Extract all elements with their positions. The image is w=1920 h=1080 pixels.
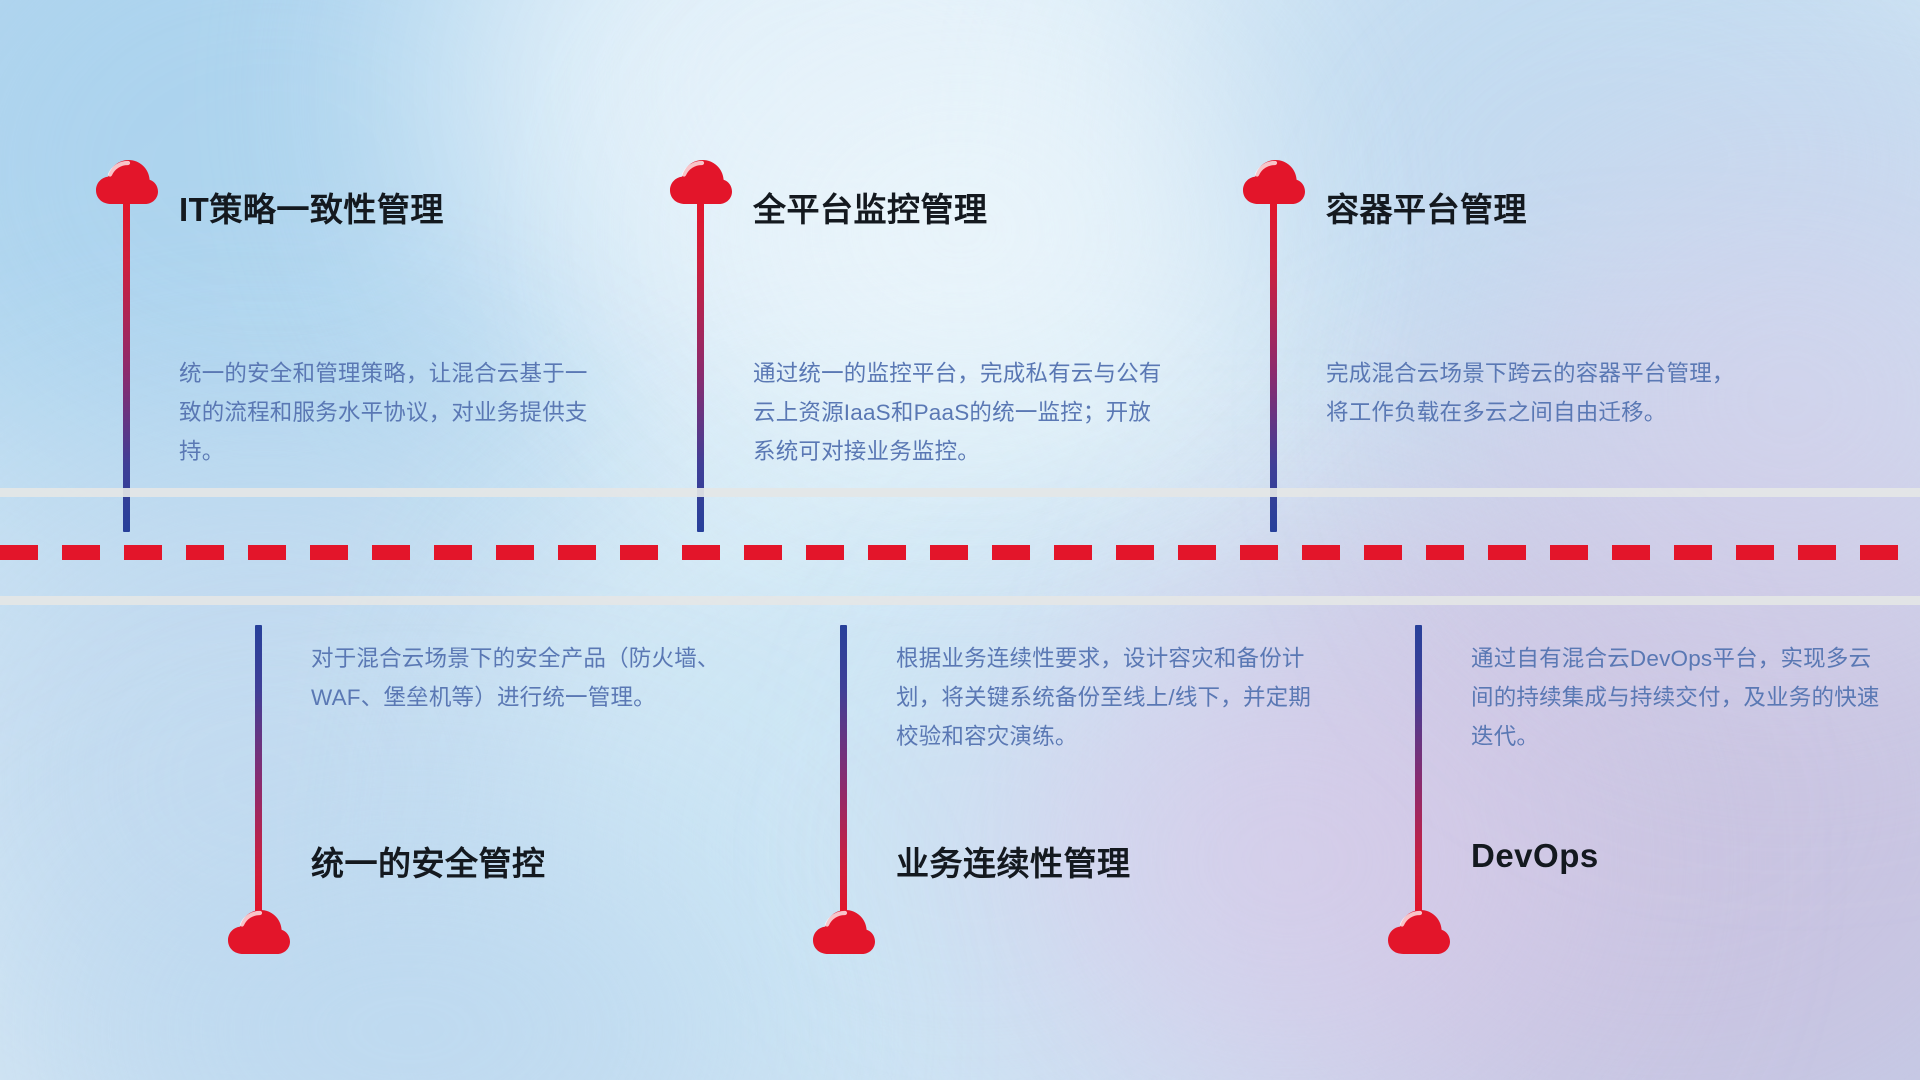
- feature-title: IT策略一致性管理: [179, 183, 444, 231]
- feature-title: DevOps: [1471, 837, 1599, 875]
- feature-description: 完成混合云场景下跨云的容器平台管理，将工作负载在多云之间自由迁移。: [1326, 354, 1746, 432]
- cloud-pin-icon: [228, 910, 290, 956]
- column-stem: [697, 202, 704, 532]
- feature-title: 容器平台管理: [1326, 183, 1527, 231]
- infographic-canvas: IT策略一致性管理 统一的安全和管理策略，让混合云基于一致的流程和服务水平协议，…: [0, 0, 1920, 1080]
- column-stem: [123, 202, 130, 532]
- column-stem: [840, 625, 847, 915]
- column-stem: [1270, 202, 1277, 532]
- road-edge-top: [0, 488, 1920, 497]
- column-stem: [1415, 625, 1422, 915]
- feature-description: 通过统一的监控平台，完成私有云与公有云上资源IaaS和PaaS的统一监控；开放系…: [753, 354, 1173, 471]
- feature-description: 对于混合云场景下的安全产品（防火墙、WAF、堡垒机等）进行统一管理。: [311, 639, 731, 717]
- column-stem: [255, 625, 262, 915]
- feature-description: 通过自有混合云DevOps平台，实现多云间的持续集成与持续交付，及业务的快速迭代…: [1471, 639, 1891, 756]
- feature-title: 统一的安全管控: [311, 837, 546, 885]
- road-edge-bottom: [0, 596, 1920, 605]
- cloud-pin-icon: [96, 160, 158, 206]
- feature-description: 统一的安全和管理策略，让混合云基于一致的流程和服务水平协议，对业务提供支持。: [179, 354, 599, 471]
- cloud-pin-icon: [813, 910, 875, 956]
- cloud-pin-icon: [1388, 910, 1450, 956]
- feature-title: 全平台监控管理: [753, 183, 988, 231]
- road-center-dashes: [0, 545, 1920, 560]
- feature-description: 根据业务连续性要求，设计容灾和备份计划，将关键系统备份至线上/线下，并定期校验和…: [896, 639, 1316, 756]
- cloud-pin-icon: [1243, 160, 1305, 206]
- cloud-pin-icon: [670, 160, 732, 206]
- feature-title: 业务连续性管理: [896, 837, 1131, 885]
